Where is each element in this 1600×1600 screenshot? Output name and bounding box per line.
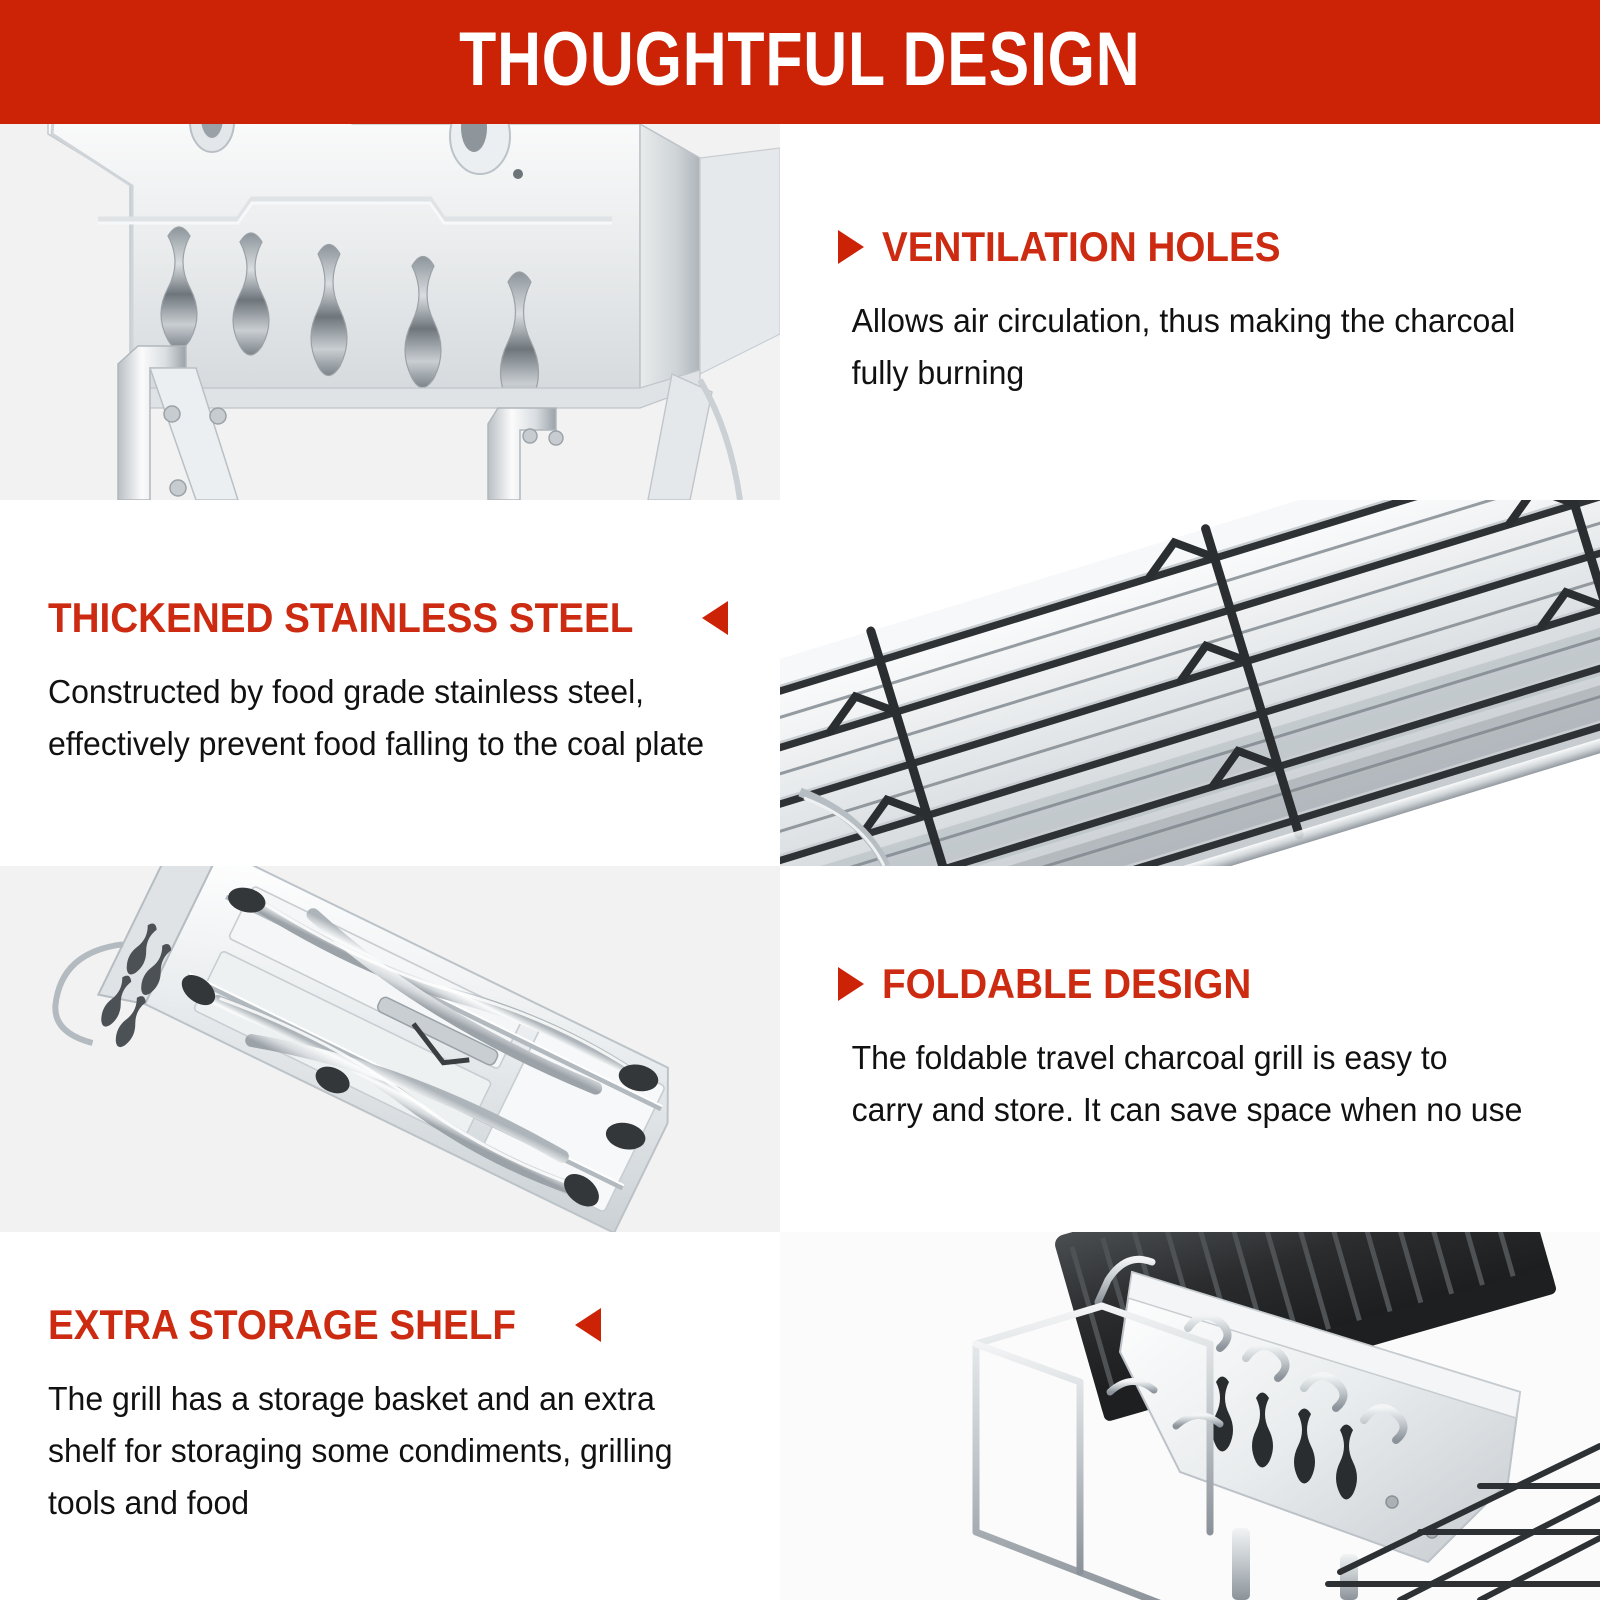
feature-heading-row: VENTILATION HOLES	[838, 225, 1548, 269]
triangle-right-icon	[838, 230, 864, 264]
triangle-left-icon	[575, 1308, 601, 1342]
triangle-left-icon	[702, 601, 728, 635]
feature-heading-row: EXTRA STORAGE SHELF	[48, 1303, 740, 1347]
grill-ventilation-holes-photo	[0, 124, 780, 500]
feature-body: The grill has a storage basket and an ex…	[48, 1373, 719, 1529]
feature-text-ventilation-holes: VENTILATION HOLES Allows air circulation…	[780, 124, 1600, 500]
feature-heading: THICKENED STAINLESS STEEL	[48, 596, 633, 640]
feature-text-foldable-design: FOLDABLE DESIGN The foldable travel char…	[780, 866, 1600, 1232]
feature-heading: EXTRA STORAGE SHELF	[48, 1303, 516, 1347]
folded-grill-photo	[0, 866, 780, 1232]
storage-basket-photo	[780, 1232, 1600, 1600]
feature-body: Allows air circulation, thus making the …	[838, 295, 1527, 399]
feature-text-thickened-stainless-steel: THICKENED STAINLESS STEEL Constructed by…	[0, 500, 780, 866]
page-title: THOUGHTFUL DESIGN	[459, 22, 1140, 102]
feature-heading: FOLDABLE DESIGN	[882, 962, 1251, 1006]
feature-heading-row: FOLDABLE DESIGN	[838, 962, 1548, 1006]
triangle-right-icon	[838, 967, 864, 1001]
feature-grid: VENTILATION HOLES Allows air circulation…	[0, 124, 1600, 1600]
feature-heading-row: THICKENED STAINLESS STEEL	[48, 596, 740, 640]
feature-text-extra-storage-shelf: EXTRA STORAGE SHELF The grill has a stor…	[0, 1232, 780, 1600]
feature-body: The foldable travel charcoal grill is ea…	[838, 1032, 1527, 1136]
feature-heading: VENTILATION HOLES	[882, 225, 1281, 269]
page-header-banner: THOUGHTFUL DESIGN	[0, 0, 1600, 124]
grill-grate-photo	[780, 500, 1600, 866]
infographic-page: THOUGHTFUL DESIGN	[0, 0, 1600, 1600]
feature-body: Constructed by food grade stainless stee…	[48, 666, 719, 770]
